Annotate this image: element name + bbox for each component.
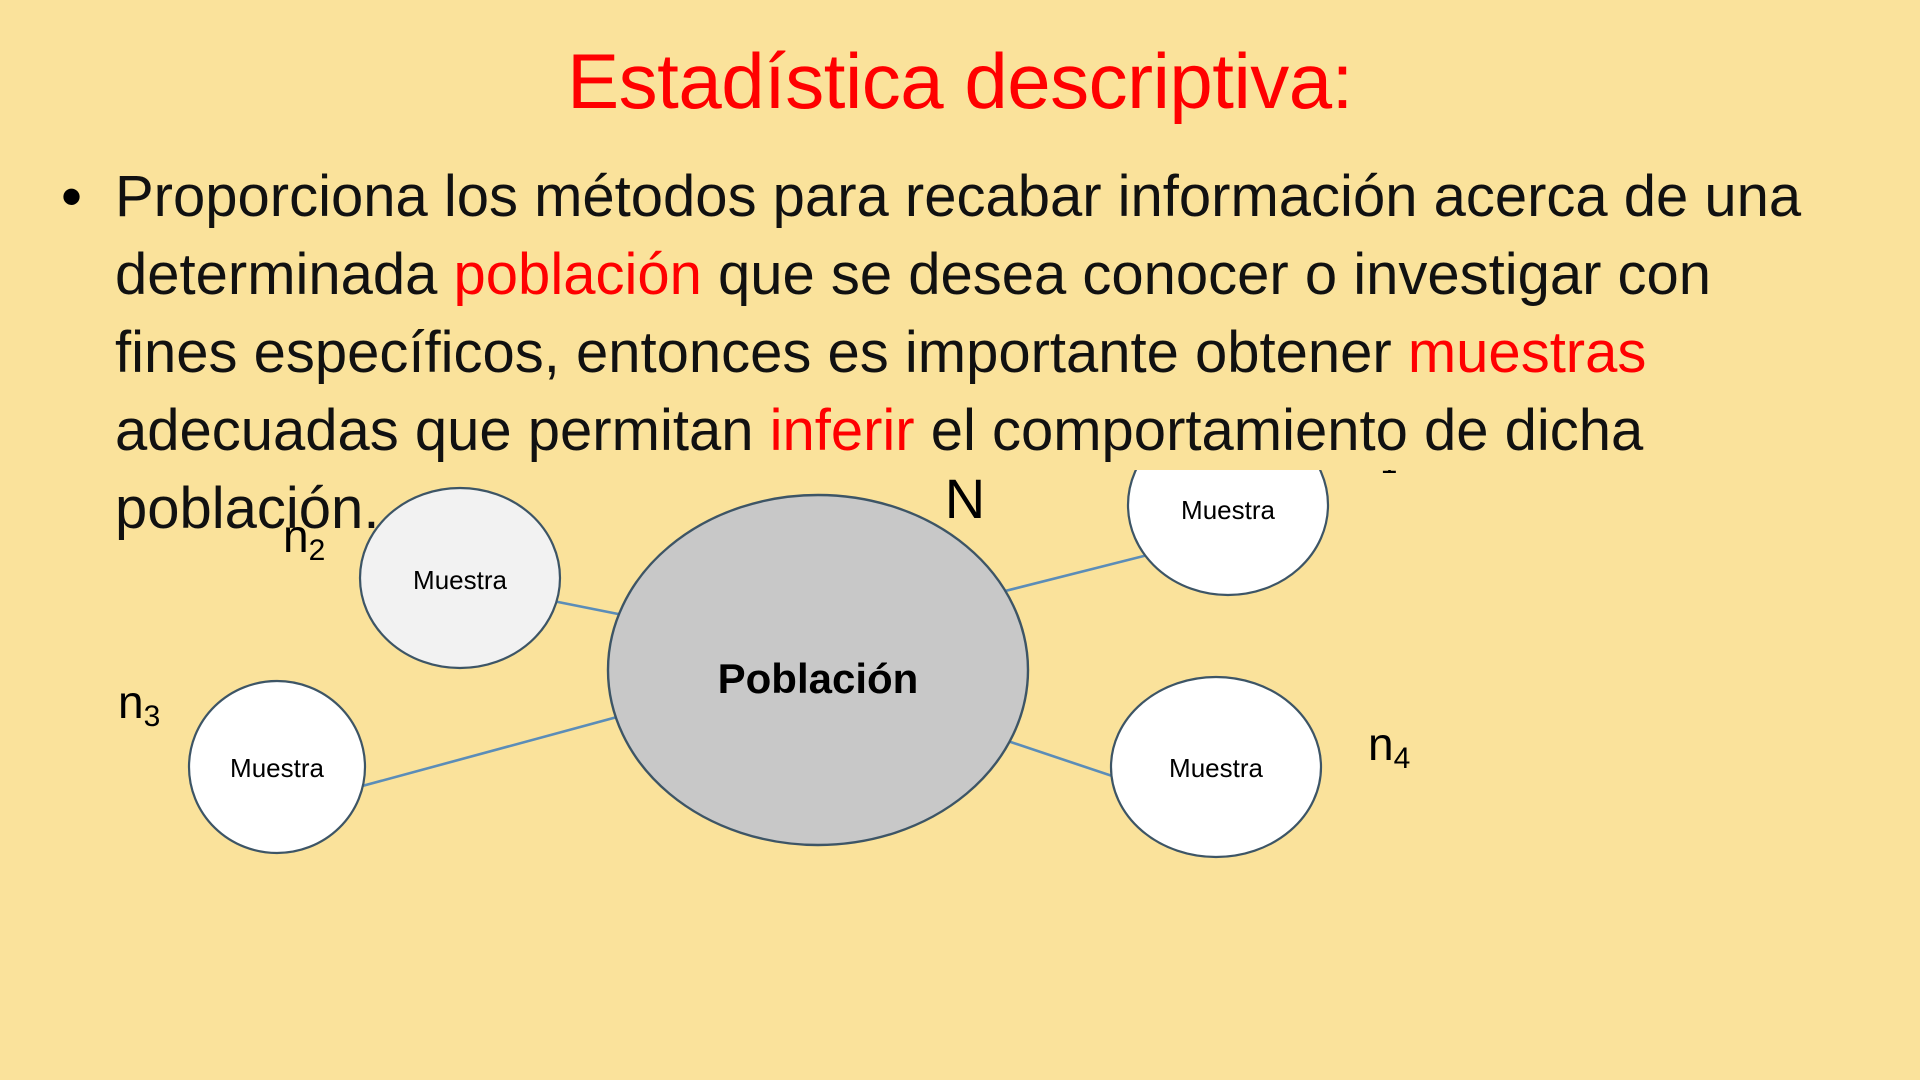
sample-group-n3[interactable]: Muestra n3 — [118, 676, 365, 853]
sample-label-n2: Muestra — [413, 565, 507, 595]
sample-group-n4[interactable]: Muestra n4 — [1111, 677, 1410, 857]
population-sample-diagram: Población N Muestra n1 Muestra n2 Muestr… — [0, 470, 1920, 1080]
sample-label-n4: Muestra — [1169, 753, 1263, 783]
body-segment-muestras: muestras — [1408, 320, 1647, 385]
sample-size-label-n2: n2 — [283, 510, 325, 567]
sample-size-label-n1: n1 — [1355, 470, 1397, 480]
sample-circle-n1[interactable] — [1128, 470, 1328, 595]
bullet-glyph: • — [55, 158, 115, 236]
body-segment-poblacion: población — [454, 242, 702, 307]
population-label: Población — [718, 655, 919, 702]
sample-group-n1[interactable]: Muestra n1 — [1128, 470, 1397, 595]
population-shape[interactable]: Población — [608, 495, 1028, 845]
sample-label-n3: Muestra — [230, 753, 324, 783]
sample-label-n1: Muestra — [1181, 495, 1275, 525]
sample-size-label-n4: n4 — [1368, 718, 1410, 775]
slide-canvas: Estadística descriptiva: • Proporciona l… — [0, 0, 1920, 1080]
sample-size-label-n3: n3 — [118, 676, 160, 733]
population-size-label: N — [945, 470, 985, 530]
sample-group-n2[interactable]: Muestra n2 — [283, 488, 560, 668]
page-title: Estadística descriptiva: — [0, 38, 1920, 124]
body-segment-inferir: inferir — [770, 398, 915, 463]
body-segment-4: adecuadas que permitan — [115, 398, 770, 463]
